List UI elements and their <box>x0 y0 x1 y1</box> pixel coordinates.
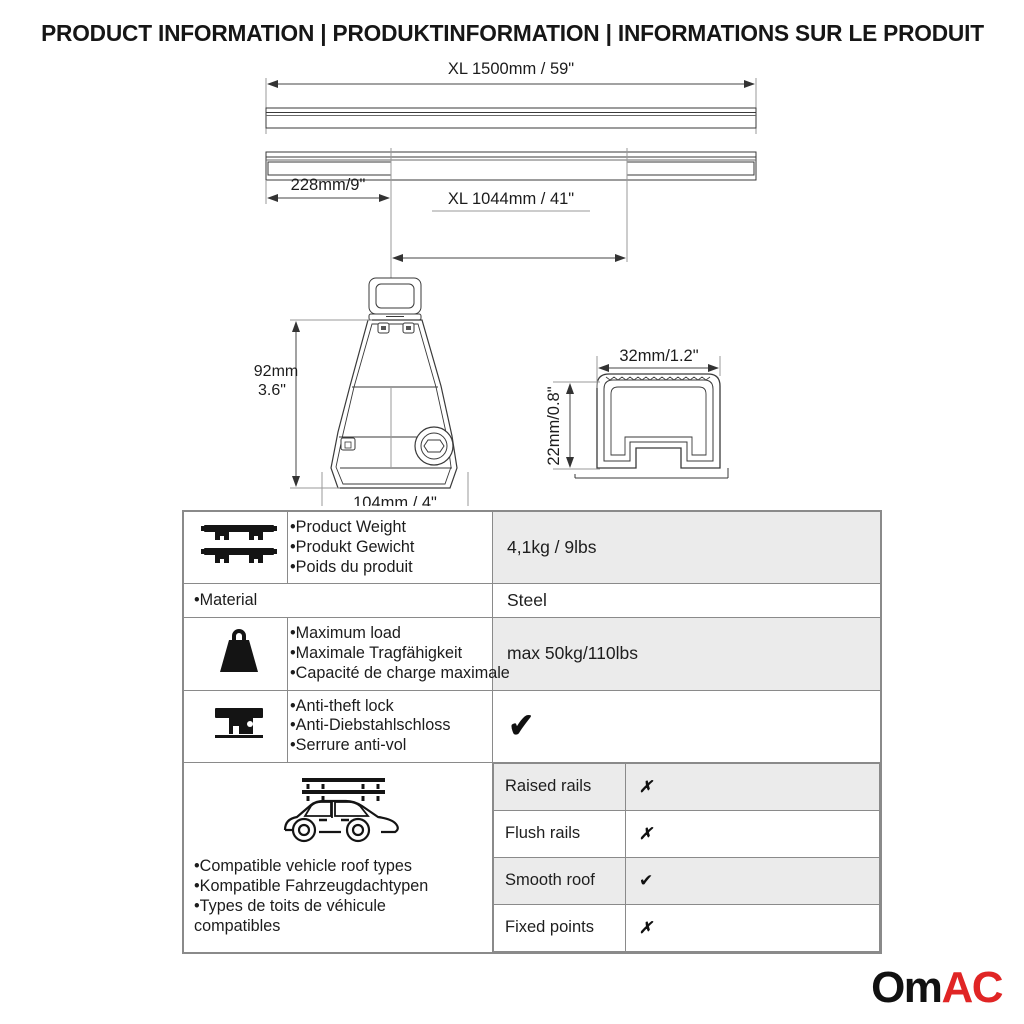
check-icon: ✔ <box>508 709 534 743</box>
dim-bar-overall-length: XL 1500mm / 59" <box>448 60 574 78</box>
cross-icon: ✗ <box>639 920 652 937</box>
max-load-label-cell: •Maximum load •Maximale Tragfähigkeit •C… <box>288 618 493 690</box>
label-line: •Types de toits de véhicule <box>194 897 482 917</box>
label-line: •Kompatible Fahrzeugdachtypen <box>194 877 482 897</box>
dim-foot-height-inch: 3.6" <box>258 382 286 399</box>
label-line: •Maximale Tragfähigkeit <box>290 644 486 664</box>
specification-table: •Product Weight •Produkt Gewicht •Poids … <box>182 510 882 954</box>
dim-foot-width: 104mm / 4" <box>353 494 437 506</box>
crossbars-icon <box>196 519 282 571</box>
roof-type-mark: ✗ <box>626 763 880 810</box>
roof-types-label-cell: •Compatible vehicle roof types •Kompatib… <box>184 762 493 952</box>
page-title: PRODUCT INFORMATION | PRODUKTINFORMATION… <box>0 20 1024 47</box>
crossbars-icon-cell <box>184 512 288 584</box>
car-with-rack-icon <box>275 772 401 846</box>
technical-drawing: XL 1500mm / 59" 228mm/9" XL 1044mm / 41"… <box>0 56 1024 506</box>
roof-type-row: Raised rails ✗ <box>494 763 880 810</box>
label-line: •Material <box>194 591 484 611</box>
roof-type-row: Flush rails ✗ <box>494 810 880 857</box>
label-line: •Compatible vehicle roof types <box>194 857 482 877</box>
weight-icon <box>210 622 268 680</box>
roof-type-name: Flush rails <box>494 810 626 857</box>
lock-icon <box>207 702 271 746</box>
roof-type-mark: ✗ <box>626 904 880 951</box>
logo-text-dark: Om <box>871 963 941 1012</box>
product-information-page: PRODUCT INFORMATION | PRODUKTINFORMATION… <box>0 0 1024 1024</box>
label-line: compatibles <box>194 917 482 937</box>
label-line: •Product Weight <box>290 518 486 538</box>
product-weight-value: 4,1kg / 9lbs <box>493 512 881 584</box>
label-line: •Produkt Gewicht <box>290 538 486 558</box>
dim-bar-end-offset: 228mm/9" <box>291 176 366 194</box>
roof-types-subtable-cell: Raised rails ✗ Flush rails ✗ <box>493 762 881 952</box>
check-icon: ✔ <box>639 871 653 890</box>
roof-type-row: Fixed points ✗ <box>494 904 880 951</box>
dim-profile-height: 22mm/0.8" <box>545 386 563 465</box>
label-line: •Maximum load <box>290 624 486 644</box>
cross-icon: ✗ <box>639 826 652 843</box>
table-row: •Maximum load •Maximale Tragfähigkeit •C… <box>184 618 881 690</box>
product-weight-label-cell: •Product Weight •Produkt Gewicht •Poids … <box>288 512 493 584</box>
anti-theft-value: ✔ <box>493 690 881 762</box>
material-label-cell: •Material <box>184 584 493 618</box>
roof-type-mark: ✔ <box>626 857 880 904</box>
logo-text-red: AC <box>941 963 1002 1012</box>
lock-icon-cell <box>184 690 288 762</box>
omac-logo: OmAC <box>871 966 1002 1010</box>
max-load-value: max 50kg/110lbs <box>493 618 881 690</box>
table-row: •Compatible vehicle roof types •Kompatib… <box>184 762 881 952</box>
table-row: •Anti-theft lock •Anti-Diebstahlschloss … <box>184 690 881 762</box>
dim-bar-span: XL 1044mm / 41" <box>448 190 574 208</box>
roof-type-name: Raised rails <box>494 763 626 810</box>
roof-type-mark: ✗ <box>626 810 880 857</box>
roof-type-row: Smooth roof ✔ <box>494 857 880 904</box>
page-title-text: PRODUCT INFORMATION | PRODUKTINFORMATION… <box>41 20 984 47</box>
material-value: Steel <box>493 584 881 618</box>
table-row: •Material Steel <box>184 584 881 618</box>
table-row: •Product Weight •Produkt Gewicht •Poids … <box>184 512 881 584</box>
label-line: •Capacité de charge maximale <box>290 664 486 684</box>
label-line: •Anti-Diebstahlschloss <box>290 716 486 736</box>
label-line: •Serrure anti-vol <box>290 736 486 756</box>
roof-type-name: Fixed points <box>494 904 626 951</box>
label-line: •Anti-theft lock <box>290 697 486 717</box>
anti-theft-label-cell: •Anti-theft lock •Anti-Diebstahlschloss … <box>288 690 493 762</box>
roof-type-name: Smooth roof <box>494 857 626 904</box>
roof-types-subtable: Raised rails ✗ Flush rails ✗ <box>493 763 880 952</box>
weight-icon-cell <box>184 618 288 690</box>
dim-profile-width: 32mm/1.2" <box>619 347 698 365</box>
cross-icon: ✗ <box>639 779 652 796</box>
label-line: •Poids du produit <box>290 558 486 578</box>
dim-foot-height: 92mm <box>254 363 298 380</box>
